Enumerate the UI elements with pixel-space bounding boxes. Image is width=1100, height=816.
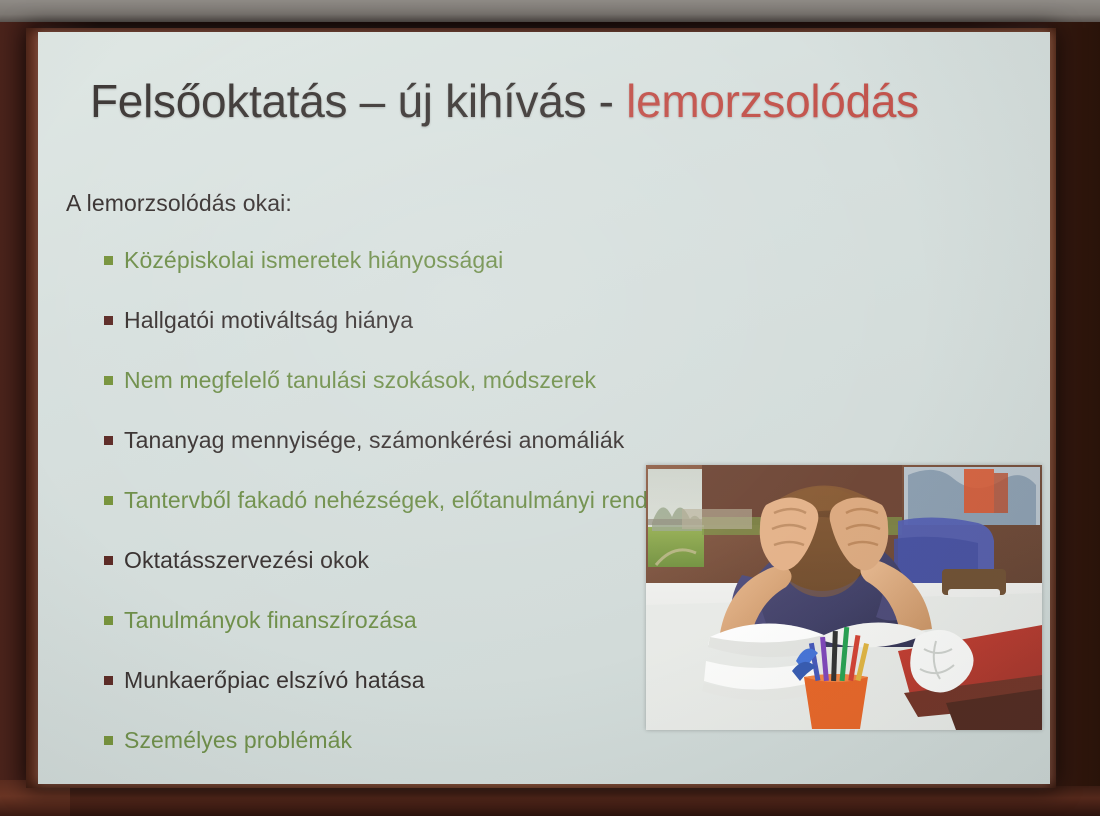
list-item-label: Nem megfelelő tanulási szokások, módszer… xyxy=(124,367,596,393)
list-item-label: Személyes problémák xyxy=(124,727,352,753)
slide-title-main: Felsőoktatás – új kihívás - xyxy=(90,75,626,127)
list-item-label: Középiskolai ismeretek hiányosságai xyxy=(124,247,503,273)
list-item-label: Tanulmányok finanszírozása xyxy=(124,607,417,633)
list-item: Tananyag mennyisége, számonkérési anomál… xyxy=(66,410,1026,470)
bullet-square-icon xyxy=(104,436,113,445)
stressed-student-photo xyxy=(646,465,1042,730)
list-item: Oktatók (pl. pedagógiai képzettség hiány… xyxy=(66,770,1026,784)
list-item-label: Hallgatói motiváltság hiánya xyxy=(124,307,413,333)
presentation-slide: Felsőoktatás – új kihívás - lemorzsolódá… xyxy=(38,32,1050,784)
list-item-label: Tantervből fakadó nehézségek, előtanulmá… xyxy=(124,487,648,513)
slide-title: Felsőoktatás – új kihívás - lemorzsolódá… xyxy=(90,74,1020,128)
bullet-square-icon xyxy=(104,496,113,505)
bullet-square-icon xyxy=(104,256,113,265)
list-item-label: Oktatásszervezési okok xyxy=(124,547,369,573)
slide-title-accent: lemorzsolódás xyxy=(626,75,919,127)
bullet-square-icon xyxy=(104,316,113,325)
list-item: Hallgatói motiváltság hiánya xyxy=(66,290,1026,350)
stressed-student-illustration xyxy=(646,465,1042,730)
list-item-label: Munkaerőpiac elszívó hatása xyxy=(124,667,425,693)
list-item: Középiskolai ismeretek hiányosságai xyxy=(66,230,1026,290)
projection-room: Felsőoktatás – új kihívás - lemorzsolódá… xyxy=(0,0,1100,816)
bullet-square-icon xyxy=(104,556,113,565)
bullet-square-icon xyxy=(104,736,113,745)
list-item: Nem megfelelő tanulási szokások, módszer… xyxy=(66,350,1026,410)
wall-bottom-rail xyxy=(0,786,1100,816)
bullet-square-icon xyxy=(104,376,113,385)
bullet-square-icon xyxy=(104,676,113,685)
slide-intro-text: A lemorzsolódás okai: xyxy=(66,190,292,217)
bullet-square-icon xyxy=(104,616,113,625)
list-item-label: Tananyag mennyisége, számonkérési anomál… xyxy=(124,427,624,453)
